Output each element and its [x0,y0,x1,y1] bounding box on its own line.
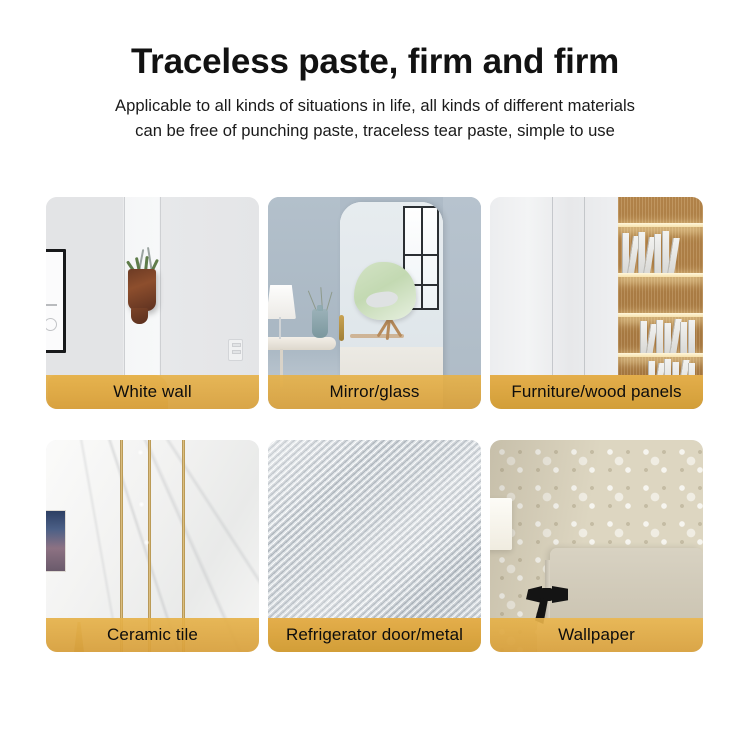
page-subtitle: Applicable to all kinds of situations in… [0,93,750,143]
tile-ceramic-tile[interactable]: Ceramic tile [46,440,259,652]
ceiling-light-reflection [139,502,144,507]
table-lamp-stem [279,317,281,339]
tile-caption: White wall [46,375,259,409]
tile-white-wall[interactable]: White wall [46,197,259,409]
ceiling-light-reflection [144,540,149,545]
tile-caption: Wallpaper [490,618,703,652]
bed-headboard [550,548,703,624]
shelf-row [618,317,703,353]
mirror-handle [339,315,344,341]
book [667,238,680,273]
subtitle-line-1: Applicable to all kinds of situations in… [48,93,702,118]
tile-caption: Furniture/wood panels [490,375,703,409]
tile-furniture-wood-panels[interactable]: Furniture/wood panels [490,197,703,409]
tile-caption: Mirror/glass [268,375,481,409]
product-feature-page: Traceless paste, firm and firm Applicabl… [0,0,750,750]
ceiling-light-reflection [138,450,143,455]
picture-frame [46,249,66,353]
glass-vase [312,309,328,338]
tile-caption: Ceramic tile [46,618,259,652]
book [654,234,661,273]
led-strip [618,273,703,277]
subtitle-line-2: can be free of punching paste, traceless… [48,118,702,143]
shelf-row [618,227,703,273]
wall-sconce [490,498,512,550]
header: Traceless paste, firm and firm Applicabl… [0,0,750,144]
tile-caption: Refrigerator door/metal [268,618,481,652]
material-tile-grid: White wall [46,197,704,652]
framed-landscape-artwork [46,510,66,572]
tile-mirror-glass[interactable]: Mirror/glass [268,197,481,409]
light-switch [228,339,243,361]
tile-wallpaper[interactable]: Wallpaper [490,440,703,652]
chair-legs [370,318,410,342]
book [680,322,687,353]
table-lamp-shade [268,285,296,319]
tile-refrigerator-door-metal[interactable]: Refrigerator door/metal [268,440,481,652]
book [688,320,695,353]
page-title: Traceless paste, firm and firm [0,42,750,82]
book [656,320,663,353]
wall-planter [128,269,156,311]
